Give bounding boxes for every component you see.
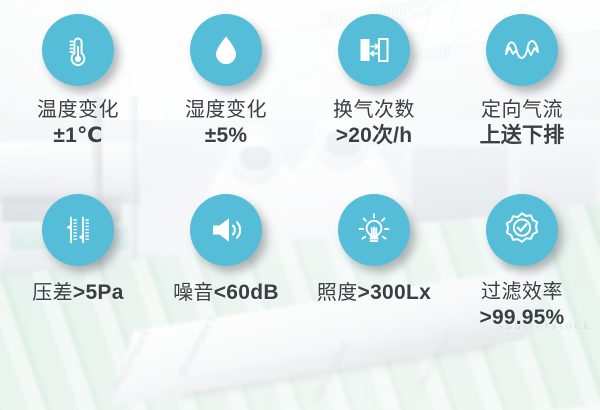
- feature-caption: 换气次数 >20次/h: [333, 99, 415, 148]
- feature-caption: 温度变化 ±1℃: [37, 99, 119, 148]
- feature-noise-level: 噪音<60dB: [152, 190, 300, 380]
- caption-line-2: ±1℃: [37, 124, 119, 149]
- badge-circle: [338, 14, 410, 86]
- caption-line-1: 照度>300Lx: [317, 281, 431, 306]
- caption-line-1: 换气次数: [333, 99, 415, 123]
- feature-pressure-difference: 压差>5Pa: [4, 190, 152, 380]
- caption-label: 压差: [32, 282, 73, 304]
- caption-line-1: 过滤效率: [480, 281, 565, 305]
- caption-line-1: 压差>5Pa: [32, 281, 123, 306]
- pressure-slider-icon: [58, 210, 98, 250]
- caption-value: <60dB: [214, 281, 279, 304]
- speaker-icon: [206, 210, 246, 250]
- feature-caption: 湿度变化 ±5%: [185, 99, 267, 148]
- feature-temperature-variation: 温度变化 ±1℃: [4, 14, 152, 190]
- water-drop-icon: [206, 30, 246, 70]
- feature-illuminance: 照度>300Lx: [300, 190, 448, 380]
- feature-caption: 过滤效率 >99.95%: [480, 281, 565, 330]
- badge-circle: [190, 194, 262, 266]
- caption-line-2: 上送下排: [480, 124, 565, 149]
- light-bulb-icon: [354, 210, 394, 250]
- badge-circle: [338, 194, 410, 266]
- airflow-wave-icon: [501, 30, 543, 70]
- feature-directional-airflow: 定向气流 上送下排: [448, 14, 596, 190]
- feature-filtration-efficiency: 过滤效率 >99.95%: [448, 190, 596, 380]
- feature-caption: 照度>300Lx: [317, 281, 431, 306]
- badge-circle: [42, 194, 114, 266]
- air-change-icon: [354, 30, 394, 70]
- caption-label: 照度: [317, 282, 358, 304]
- caption-line-1: 湿度变化: [185, 99, 267, 123]
- filter-badge-icon: [501, 209, 543, 251]
- feature-caption: 定向气流 上送下排: [480, 99, 565, 148]
- feature-humidity-variation: 湿度变化 ±5%: [152, 14, 300, 190]
- caption-value: >5Pa: [73, 281, 124, 304]
- feature-air-change-rate: 换气次数 >20次/h: [300, 14, 448, 190]
- caption-line-1: 温度变化: [37, 99, 119, 123]
- caption-value: >300Lx: [358, 281, 432, 304]
- caption-line-1: 噪音<60dB: [173, 281, 279, 306]
- caption-line-1: 定向气流: [480, 99, 565, 123]
- caption-line-2: ±5%: [185, 124, 267, 149]
- badge-circle: [486, 194, 558, 266]
- badge-circle: [190, 14, 262, 86]
- thermometer-icon: [58, 30, 98, 70]
- cleanroom-specs-infographic: shutterstock shutterstock shutterstock s…: [0, 0, 600, 410]
- caption-line-2: >99.95%: [480, 306, 565, 331]
- caption-label: 噪音: [173, 282, 214, 304]
- feature-caption: 噪音<60dB: [173, 281, 279, 306]
- feature-grid: 温度变化 ±1℃ 湿度变化 ±5%: [0, 0, 600, 410]
- caption-line-2: >20次/h: [333, 124, 415, 149]
- badge-circle: [486, 14, 558, 86]
- badge-circle: [42, 14, 114, 86]
- feature-caption: 压差>5Pa: [32, 281, 123, 306]
